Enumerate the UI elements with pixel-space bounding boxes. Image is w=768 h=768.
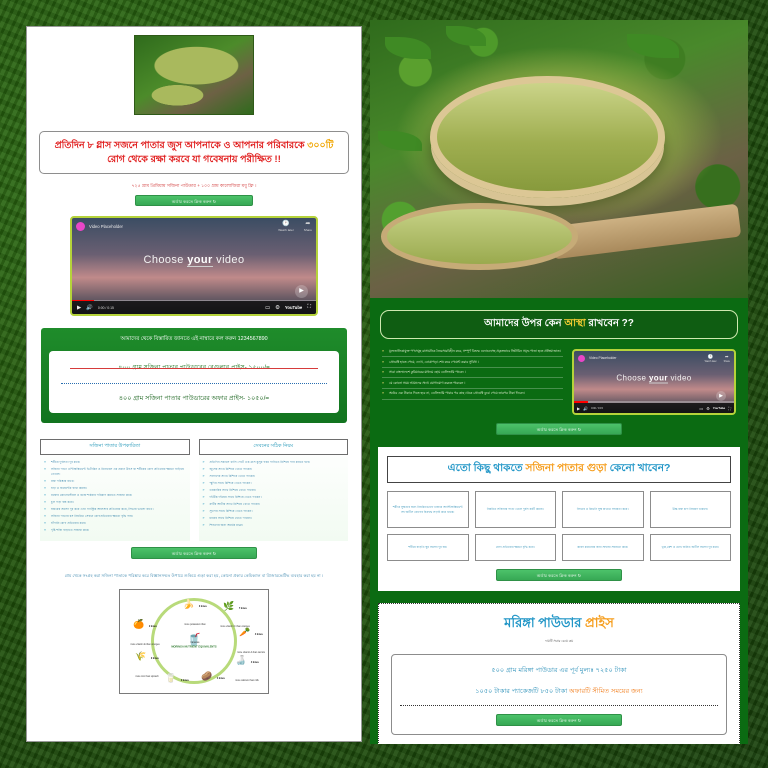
leaf-icon — [627, 34, 679, 58]
benefit-card: রোগ প্রতিরোধ ক্ষমতা বৃদ্ধি করে। — [475, 534, 557, 561]
left-hero-image — [134, 35, 254, 115]
offer-price: ৪০০ গ্রাম সজিনা পাতার পাউডারের অফার প্রা… — [59, 392, 329, 404]
column-benefits-heading: সজিনা পাতার উপকারিতা — [40, 439, 190, 455]
channel-avatar-icon — [578, 355, 585, 362]
list-item: শরীরে দুর্বলতা দূর করে। — [44, 460, 186, 465]
list-item: স্মুদির সাথে মিশিয়ে খেতে পারেন। — [203, 481, 345, 486]
leaf-icon — [446, 26, 486, 46]
video-center-post: video — [213, 254, 245, 266]
video-watermark-icon: ▶ — [716, 391, 726, 401]
price-details-box: ৫০০ গ্রাম মরিঙ্গা পাউডার এর পূর্ব মুল্যঃ… — [391, 654, 727, 735]
trust-title-post: রাখবেন ?? — [586, 318, 634, 329]
video-center-bold: your — [187, 254, 212, 267]
list-item: চায়ের সাথে মিশিয়ে খেতে পারেন। — [203, 516, 345, 521]
subtitles-icon[interactable]: ▭ — [699, 406, 703, 411]
infographic-node: 🌾 3 timesmore iron than spinach — [132, 646, 162, 682]
left-landing-panel: প্রতিদিন ৮ গ্লাস সজনে পাতার জুস আপনাকে ও… — [26, 26, 362, 742]
trust-title-pre: আমাদের উপর কেন — [484, 318, 564, 329]
trust-title-highlight: আস্থা — [564, 318, 585, 329]
video-player-right[interactable]: Video Placeholder 🕐 Watch later ➦ Share … — [572, 349, 736, 415]
benefits-list: শরীরে দুর্বলতা দূর করে। সজিনা পাতা এন্টি… — [40, 460, 190, 532]
benefits-section: এতো কিছু থাকতে সজিনা পাতার গুড়া কেনো খা… — [378, 447, 740, 591]
trust-list: মূল্যতালিকাযুক্ত পণ্যসমূহ রাসায়নিক জৈবস… — [382, 349, 563, 402]
list-item: হজমের সমস্যা দূর করে এবং গ্যাস্ট্রিক আলস… — [44, 507, 186, 512]
leaf-icon: 🌿 — [223, 601, 234, 611]
list-item: তরকারির সাথে মিশিয়ে খেতে পারেন। — [203, 488, 345, 493]
free-gift-note: ৭২৫ গ্রাম প্রিমিয়াম সজিনা পাউডার + ১০০ … — [27, 183, 361, 189]
infographic-node: 🍊 2 timesmore vitamin E than oranges — [130, 614, 160, 650]
video-actions: 🕐 Watch later ➦ Share — [278, 221, 312, 232]
price-title-pre: মরিঙ্গা পাউডার — [504, 615, 585, 630]
order-cta-button-top[interactable]: অর্ডার করতে ক্লিক করুন ↻ — [135, 195, 253, 206]
video-controls[interactable]: ▶ 🔊 0:00 / 0:15 ▭ ⚙ YouTube ⛶ — [574, 403, 734, 413]
benefits-columns: সজিনা পাতার উপকারিতা শরীরে দুর্বলতা দূর … — [40, 439, 348, 541]
list-item: দৃষ্টি শক্তি বাড়াতে সাহায্য করে। — [44, 528, 186, 533]
video-center-bold: your — [649, 374, 668, 384]
share-label: Share — [724, 360, 730, 363]
benefit-card: ত্বক,কেশ ও চোখ জনিত জটিল সমস্যা দূর করে। — [650, 534, 732, 561]
infographic-node: 🍌 3 timesmore potassium than bananas — [180, 594, 210, 648]
settings-gear-icon[interactable]: ⚙ — [275, 305, 280, 311]
headline-part-1: প্রতিদিন ৮ গ্লাস সজনে পাতার জুস আপনাকে ও… — [55, 140, 308, 150]
youtube-logo[interactable]: YouTube — [285, 305, 302, 310]
price-section-title: মরিঙ্গা পাউডার প্রাইস — [391, 614, 727, 635]
benefits-section-title: এতো কিছু থাকতে সজিনা পাতার গুড়া কেনো খা… — [387, 456, 731, 483]
column-usage: সেবনের সঠিক নিয়ম প্রতিদিন সকালে খালি পে… — [199, 439, 349, 541]
price-offer-line: ১০৫০ টাকার প্যাকেজটি ৮৫০ টাকা অফারটি সীম… — [400, 685, 718, 697]
list-item: শিশুদের জন্য অর্ধেক মাত্রা। — [203, 523, 345, 528]
youtube-logo[interactable]: YouTube — [713, 406, 725, 410]
benefit-card: নিয়মিত সজিনার পাতা খেলে দুর্বল কাটি কমা… — [475, 491, 557, 528]
list-item: রক্তের কোলেস্টেরল ও রক্তে শর্করার পরিমাণ… — [44, 493, 186, 498]
volume-icon[interactable]: 🔊 — [86, 305, 93, 311]
benefits-title-post: কেনো খাবেন? — [607, 462, 671, 474]
list-item: চুল পড়া বন্ধ করে। — [44, 500, 186, 505]
list-item: যে কোনো সময় আমাদের সাথে যোগাযোগ করতে পা… — [382, 381, 563, 389]
video-center-text: Choose your video — [574, 374, 734, 383]
video-controls-right: ▭ ⚙ YouTube ⛶ — [699, 406, 731, 411]
list-item: প্রতিদিন সকালে খালি পেটে এক গ্লাস কুসুম … — [203, 460, 345, 465]
video-timestamp: 0:00 / 0:15 — [591, 407, 603, 410]
price-section: মরিঙ্গা পাউডার প্রাইস দামটি সবার চেয়ে ক… — [378, 603, 740, 744]
benefits-title-highlight: সজিনা পাতার গুড়া — [526, 462, 607, 474]
order-cta-button-price[interactable]: অর্ডার করতে ক্লিক করুন ↻ — [496, 714, 622, 726]
video-title: Video Placeholder — [89, 224, 123, 229]
price-card: ৪০০ গ্রাম সজিনা পাতার পাউডারের রেগুলার প… — [49, 351, 339, 413]
price-divider — [61, 383, 327, 384]
list-item: অর্ডার এক টাকাও দিতে হবে না, ডেলিভারি পা… — [382, 391, 563, 399]
node-label: 3 timesmore potassium than bananas — [184, 606, 207, 644]
headline-text: প্রতিদিন ৮ গ্লাস সজনে পাতার জুস আপনাকে ও… — [48, 138, 340, 167]
play-icon[interactable]: ▶ — [77, 305, 81, 311]
wooden-spoon-icon — [381, 203, 578, 270]
trust-content-row: মূল্যতালিকাযুক্ত পণ্যসমূহ রাসায়নিক জৈবস… — [382, 349, 736, 415]
list-item: মূল্যতালিকাযুক্ত পণ্যসমূহ রাসায়নিক জৈবস… — [382, 349, 563, 357]
play-icon[interactable]: ▶ — [577, 406, 580, 411]
infographic-node: 🍶 4 timesmore calcium than milk — [232, 650, 262, 686]
share-button[interactable]: ➦ Share — [724, 354, 730, 363]
fullscreen-icon[interactable]: ⛶ — [307, 304, 311, 311]
video-controls[interactable]: ▶ 🔊 0:00 / 0:15 ▭ ⚙ YouTube ⛶ — [72, 301, 316, 314]
headline-highlight: ৩০০টি — [307, 140, 333, 150]
headline-part-2: রোগ থেকে রক্ষা করবে যা গবেষনায় পরীক্ষিত… — [107, 154, 281, 164]
wooden-bowl-icon — [430, 76, 664, 198]
benefits-title-pre: এতো কিছু থাকতে — [448, 462, 526, 474]
column-benefits: সজিনা পাতার উপকারিতা শরীরে দুর্বলতা দূর … — [40, 439, 190, 541]
infographic-node: 🥛 2 timesmore protein than yogurt — [162, 668, 192, 694]
list-item: সজিনা পাতা এন্টিঅক্সিডেন্ট ভিটামিন ও মিন… — [44, 467, 186, 477]
benefit-card: কারণ কমানোর জন্য সাহায্য সহায়তা করে। — [562, 534, 644, 561]
milk-bottle-icon: 🍶 — [235, 655, 246, 665]
video-title: Video Placeholder — [589, 356, 616, 360]
page-root: প্রতিদিন ৮ গ্লাস সজনে পাতার জুস আপনাকে ও… — [0, 0, 768, 768]
leaf-icon — [378, 131, 422, 151]
list-item: স্যুপের সাথে মিশিয়ে খেতে পারেন। — [203, 509, 345, 514]
seeds-icon: 🌾 — [135, 651, 146, 661]
nutrient-infographic: 🥤 MORINGA NUTRIENT EQUIVALENTS 🍌 3 times… — [119, 589, 269, 694]
channel-avatar-icon — [76, 222, 85, 231]
benefit-card: উচ্চ রক্ত চাপ নিয়ন্ত্রণ থাকবে। — [650, 491, 732, 528]
banana-icon: 🍌 — [183, 599, 194, 609]
video-center-pre: Choose — [616, 374, 649, 383]
regular-price: ৪০০ গ্রাম সজিনা পাতার পাউডারের রেগুলার প… — [59, 360, 329, 375]
settings-gear-icon[interactable]: ⚙ — [706, 406, 710, 411]
benefits-grid: শরীরে সুস্থতার জন্য নিয়মিতভাবে খাবারে অ… — [387, 491, 731, 561]
list-item: জুসের সাথে মিশিয়ে খেতে পারেন। — [203, 467, 345, 472]
video-center-post: video — [668, 374, 692, 383]
price-original-line: ৫০০ গ্রাম মরিঙ্গা পাউডার এর পূর্ব মুল্যঃ… — [400, 664, 718, 676]
benefit-card: শরীরে সুস্থতার জন্য নিয়মিতভাবে খাবারে অ… — [387, 491, 469, 528]
grain-icon: 🥔 — [201, 671, 212, 681]
leaf-icon — [385, 37, 431, 59]
volume-icon[interactable]: 🔊 — [583, 406, 588, 411]
list-item: সালাদের সাথে মিশিয়ে খেতে পারেন। — [203, 474, 345, 479]
call-us-text: আমাদের থেকে বিস্তারিত জানতে এই নাম্বারে … — [49, 336, 339, 344]
list-item: রক্ত পরিষ্কার রাখে। — [44, 479, 186, 484]
price-offer-pre: ১০৫০ টাকার প্যাকেজটি ৮৫০ টাকা — [475, 688, 569, 695]
benefit-card: লিভার ও কিডনি সুস্থ রাখতে সহায়তা করে। — [562, 491, 644, 528]
video-actions: 🕐 Watch later ➦ Share — [705, 354, 730, 363]
price-green-box: আমাদের থেকে বিস্তারিত জানতে এই নাম্বারে … — [41, 328, 347, 423]
price-dotted-divider — [400, 705, 718, 706]
order-cta-button-trust[interactable]: অর্ডার করতে ক্লিক করুন ↻ — [496, 423, 622, 435]
video-controls-right: ▭ ⚙ YouTube ⛶ — [265, 304, 311, 311]
process-description: গ্রাম থেকে সংগ্রহ করা সজিনা পাতাকে পরিষ্… — [55, 573, 333, 580]
infographic-node: 🥔 4 timesmore fiber than oats — [198, 666, 228, 694]
list-item: হাঁপানি রোগ প্রতিরোধ করে। — [44, 521, 186, 526]
list-item: দই/টক দইয়ের সাথে মিশিয়ে খেতে পারেন। — [203, 495, 345, 500]
right-hero-image — [370, 20, 748, 298]
share-button[interactable]: ➦ Share — [304, 221, 312, 232]
list-item: সজিনা পাতার রস নিয়মিত সেবনে রোগপ্রতিরোধ… — [44, 514, 186, 519]
trust-section-title: আমাদের উপর কেন আস্থা রাখবেন ?? — [380, 310, 738, 339]
yogurt-icon: 🥛 — [165, 673, 176, 683]
video-topbar: Video Placeholder 🕐 Watch later ➦ Share — [76, 221, 312, 232]
usage-list: প্রতিদিন সকালে খালি পেটে এক গ্লাস কুসুম … — [199, 460, 349, 528]
video-topbar: Video Placeholder 🕐 Watch later ➦ Share — [578, 354, 730, 363]
price-offer-highlight: অফারটি সীমিত সময়ের জন্য — [569, 688, 643, 695]
spoon-handle-icon — [550, 203, 742, 259]
subtitles-icon[interactable]: ▭ — [265, 305, 270, 311]
right-landing-panel: আমাদের উপর কেন আস্থা রাখবেন ?? মূল্যতালি… — [370, 20, 748, 744]
carrot-icon: 🥕 — [239, 627, 250, 637]
video-watermark-icon: ▶ — [295, 285, 308, 298]
list-item: হাড় ও জয়েন্টের ব্যথা কমায়। — [44, 486, 186, 491]
price-subtitle: দামটি সবার চেয়ে কম — [391, 639, 727, 645]
order-cta-button-middle[interactable]: অর্ডার করতে ক্লিক করুন ↻ — [131, 547, 257, 559]
watch-later-button[interactable]: 🕐 Watch later — [705, 354, 717, 363]
order-cta-button-benefits[interactable]: অর্ডার করতে ক্লিক করুন ↻ — [496, 569, 622, 581]
price-title-highlight: প্রাইস — [585, 615, 614, 630]
list-item: সারা বাংলাদেশে কুরিয়ারের মাধ্যমে হোম ডে… — [382, 370, 563, 378]
video-player-left[interactable]: Video Placeholder 🕐 Watch later ➦ Share … — [70, 216, 318, 316]
list-item: রুটির আটার সাথে মিশিয়ে খেতে পারেন। — [203, 502, 345, 507]
benefit-card: শরীরে বাড়তি ঘুম সমস্যা দূর হয়। — [387, 534, 469, 561]
headline-box: প্রতিদিন ৮ গ্লাস সজনে পাতার জুস আপনাকে ও… — [39, 131, 349, 174]
fullscreen-icon[interactable]: ⛶ — [728, 406, 731, 411]
orange-icon: 🍊 — [133, 619, 144, 629]
column-usage-heading: সেবনের সঠিক নিয়ম — [199, 439, 349, 455]
share-label: Share — [304, 228, 312, 232]
watch-later-label: Watch later — [278, 228, 294, 232]
watch-later-label: Watch later — [705, 360, 717, 363]
video-center-text: Choose your video — [72, 254, 316, 266]
video-center-pre: Choose — [144, 254, 188, 266]
video-timestamp: 0:00 / 0:15 — [98, 306, 114, 310]
watch-later-button[interactable]: 🕐 Watch later — [278, 221, 294, 232]
list-item: প্রোডাক্ট হাতে পেয়ে, দেখে, বোঝাপড়া শেষ… — [382, 360, 563, 368]
